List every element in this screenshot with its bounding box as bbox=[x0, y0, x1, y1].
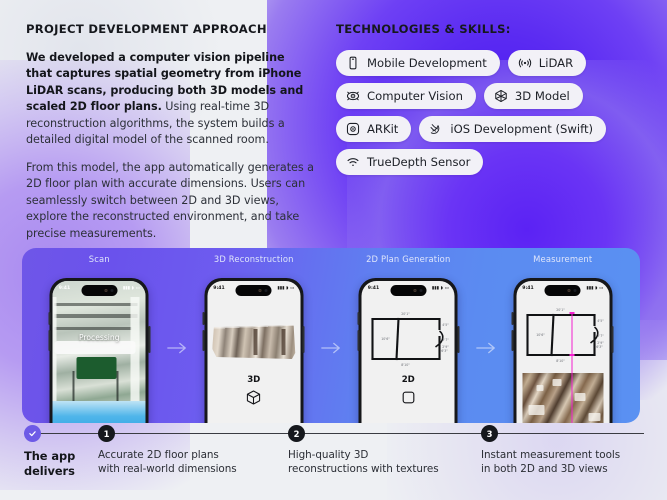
floor-plan-drawing[interactable]: 20'1" 8'10" 10'6" 4'5" 3'7" 2'9" 6'3" bbox=[520, 303, 606, 365]
timeline-number-badge: 3 bbox=[481, 425, 498, 442]
status-time: 9:41 bbox=[368, 286, 379, 291]
chip-label: Mobile Development bbox=[367, 56, 487, 70]
signal-waves-icon bbox=[518, 56, 532, 70]
approach-paragraph-1: We developed a computer vision pipeline … bbox=[26, 50, 314, 149]
top-section: PROJECT DEVELOPMENT APPROACH We develope… bbox=[0, 0, 667, 240]
svg-text:4'5": 4'5" bbox=[443, 323, 450, 327]
svg-text:3'7": 3'7" bbox=[443, 338, 450, 342]
svg-text:8'10": 8'10" bbox=[402, 363, 411, 367]
technology-chip-list: Mobile Development LiDAR bbox=[336, 50, 636, 175]
chip-ios-development-swift[interactable]: iOS Development (Swift) bbox=[419, 116, 606, 142]
status-indicators: ▮▮▮◗▭ bbox=[586, 286, 603, 291]
timeline-item-text: Instant measurement tools in both 2D and… bbox=[481, 449, 661, 477]
delivery-timeline: The app delivers 1 Accurate 2D floor pla… bbox=[0, 425, 667, 500]
phone-screen-measure: 9:41 ▮▮▮◗▭ bbox=[516, 281, 609, 423]
timeline-item-2: 2 High-quality 3D reconstructions with t… bbox=[288, 425, 473, 477]
timeline-number-badge: 2 bbox=[288, 425, 305, 442]
flow-step-2d-plan: 2D Plan Generation 9:41 ▮▮▮◗▭ bbox=[331, 248, 486, 423]
technologies-column: TECHNOLOGIES & SKILLS: Mobile Developmen… bbox=[336, 22, 646, 175]
phone-mockup-measure: 9:41 ▮▮▮◗▭ bbox=[513, 278, 612, 423]
flow-step-3d-reconstruction: 3D Reconstruction 9:41 ▮▮▮◗▭ bbox=[177, 248, 332, 423]
status-indicators: ▮▮▮◗▭ bbox=[123, 286, 140, 291]
phone-mockup-2d: 9:41 ▮▮▮◗▭ bbox=[359, 278, 458, 423]
svg-text:4'5": 4'5" bbox=[597, 319, 604, 323]
phone-screen-camera: 9:41 ▮▮▮◗▭ Processing bbox=[53, 281, 146, 423]
floor-plan-drawing[interactable]: 20'1" 8'10" 10'6" 4'5" 3'7" 2'9" 6'3" bbox=[366, 307, 452, 369]
depth-waves-icon bbox=[346, 155, 360, 169]
status-indicators: ▮▮▮◗▭ bbox=[277, 286, 294, 291]
measurement-line[interactable] bbox=[571, 312, 573, 423]
chip-lidar[interactable]: LiDAR bbox=[508, 50, 586, 76]
step-label: 3D Reconstruction bbox=[177, 254, 332, 264]
processing-overlay-text: Processing bbox=[53, 333, 146, 342]
phone-screen-2d: 9:41 ▮▮▮◗▭ bbox=[362, 281, 455, 423]
cube-wireframe-icon bbox=[494, 89, 508, 103]
3d-texture-preview[interactable] bbox=[522, 373, 603, 423]
chip-label: ARKit bbox=[367, 122, 398, 136]
step-label: 2D Plan Generation bbox=[331, 254, 486, 264]
chip-label: iOS Development (Swift) bbox=[450, 122, 593, 136]
chip-arkit[interactable]: ARKit bbox=[336, 116, 411, 142]
chip-label: Computer Vision bbox=[367, 89, 463, 103]
svg-text:20'1": 20'1" bbox=[402, 312, 411, 316]
timeline-lead-label: The app delivers bbox=[24, 449, 92, 479]
chip-mobile-development[interactable]: Mobile Development bbox=[336, 50, 500, 76]
status-time: 9:41 bbox=[522, 286, 533, 291]
svg-text:6'3": 6'3" bbox=[442, 349, 449, 353]
chip-truedepth-sensor[interactable]: TrueDepth Sensor bbox=[336, 149, 483, 175]
cube-icon[interactable] bbox=[245, 389, 262, 406]
step-label: Measurement bbox=[486, 254, 641, 264]
svg-text:20'1": 20'1" bbox=[556, 308, 565, 312]
timeline-item-1: 1 Accurate 2D floor plans with real-worl… bbox=[98, 425, 278, 477]
dynamic-island bbox=[390, 285, 426, 296]
chip-computer-vision[interactable]: Computer Vision bbox=[336, 83, 476, 109]
phone-mockup-3d: 9:41 ▮▮▮◗▭ 3D bbox=[204, 278, 303, 423]
status-time: 9:41 bbox=[213, 286, 224, 291]
timeline-item-text: Accurate 2D floor plans with real-world … bbox=[98, 449, 278, 477]
app-flow-panel: Scan bbox=[22, 248, 640, 423]
phone-mockup-scan: 9:41 ▮▮▮◗▭ Processing bbox=[50, 278, 149, 423]
mode-label-2d: 2D bbox=[362, 375, 455, 385]
mobile-phone-icon bbox=[346, 56, 360, 70]
chip-label: LiDAR bbox=[539, 56, 573, 70]
dynamic-island bbox=[236, 285, 272, 296]
timeline-item-text: High-quality 3D reconstructions with tex… bbox=[288, 449, 473, 477]
swift-bird-icon bbox=[429, 122, 443, 136]
eye-scan-icon bbox=[346, 89, 360, 103]
dynamic-island bbox=[81, 285, 117, 296]
camera-focus-icon bbox=[346, 122, 360, 136]
chip-3d-model[interactable]: 3D Model bbox=[484, 83, 583, 109]
timeline-number-badge: 1 bbox=[98, 425, 115, 442]
status-indicators: ▮▮▮◗▭ bbox=[432, 286, 449, 291]
timeline-lead: The app delivers bbox=[24, 425, 92, 479]
flow-step-measurement: Measurement 9:41 ▮▮▮◗▭ bbox=[486, 248, 641, 423]
phone-screen-3d: 9:41 ▮▮▮◗▭ 3D bbox=[207, 281, 300, 423]
dynamic-island bbox=[545, 285, 581, 296]
camera-feed bbox=[53, 281, 146, 423]
mode-label-3d: 3D bbox=[207, 375, 300, 385]
svg-text:3'7": 3'7" bbox=[597, 334, 604, 338]
approach-column: PROJECT DEVELOPMENT APPROACH We develope… bbox=[26, 22, 314, 253]
approach-paragraph-2: From this model, the app automatically g… bbox=[26, 160, 314, 242]
svg-text:8'10": 8'10" bbox=[556, 359, 565, 363]
chip-label: 3D Model bbox=[515, 89, 570, 103]
svg-text:6'3": 6'3" bbox=[596, 345, 603, 349]
flow-steps: Scan bbox=[22, 248, 640, 423]
approach-heading: PROJECT DEVELOPMENT APPROACH bbox=[26, 22, 314, 36]
timeline-item-3: 3 Instant measurement tools in both 2D a… bbox=[481, 425, 661, 477]
flow-step-scan: Scan bbox=[22, 248, 177, 423]
step-label: Scan bbox=[22, 254, 177, 264]
technologies-heading: TECHNOLOGIES & SKILLS: bbox=[336, 22, 646, 36]
svg-text:10'6": 10'6" bbox=[382, 337, 391, 341]
svg-text:10'6": 10'6" bbox=[536, 333, 545, 337]
chip-label: TrueDepth Sensor bbox=[367, 155, 470, 169]
status-time: 9:41 bbox=[59, 286, 70, 291]
slide-root: PROJECT DEVELOPMENT APPROACH We develope… bbox=[0, 0, 667, 500]
check-icon bbox=[24, 425, 41, 442]
square-icon[interactable] bbox=[400, 389, 417, 406]
